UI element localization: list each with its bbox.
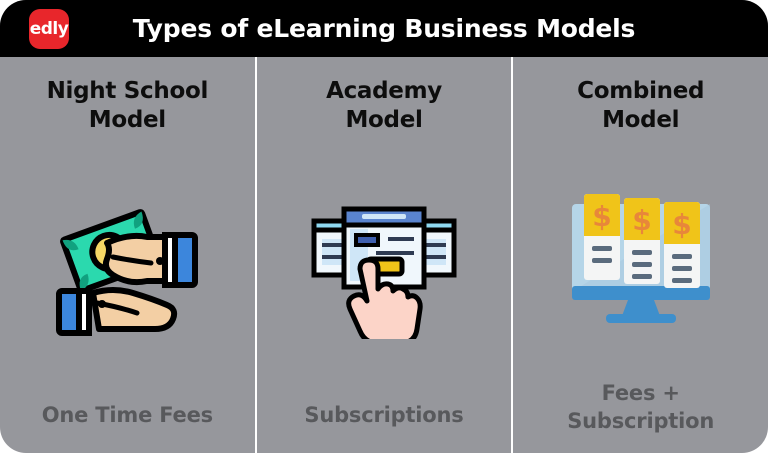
column-icon-area <box>8 136 247 402</box>
column-title: Combined Model <box>577 77 704 136</box>
monitor-pricing-plans-icon: $ $ <box>556 188 726 328</box>
page-title: Types of eLearning Business Models <box>0 14 768 43</box>
column-caption: One Time Fees <box>42 402 213 437</box>
logo-wordmark: edly <box>30 21 69 38</box>
handshake-money-icon <box>47 199 207 339</box>
column-icon-area: $ $ <box>521 136 760 381</box>
svg-text:$: $ <box>672 208 691 241</box>
column-night-school-model: Night School Model <box>0 57 255 453</box>
column-icon-area <box>265 136 504 402</box>
edly-logo: edly <box>29 9 69 49</box>
column-academy-model: Academy Model <box>255 57 512 453</box>
svg-text:$: $ <box>592 200 611 233</box>
header-bar: edly Types of eLearning Business Models <box>0 0 768 57</box>
infographic: edly Types of eLearning Business Models … <box>0 0 768 453</box>
hand-clicking-courses-icon <box>304 199 464 339</box>
column-title: Night School Model <box>47 77 208 136</box>
column-caption: Subscriptions <box>304 402 463 437</box>
model-columns: Night School Model <box>0 57 768 453</box>
infographic-card: edly Types of eLearning Business Models … <box>0 0 768 453</box>
column-title: Academy Model <box>326 77 442 136</box>
svg-text:$: $ <box>632 204 651 237</box>
column-combined-model: Combined Model <box>511 57 768 453</box>
column-caption: Fees + Subscription <box>567 380 714 437</box>
